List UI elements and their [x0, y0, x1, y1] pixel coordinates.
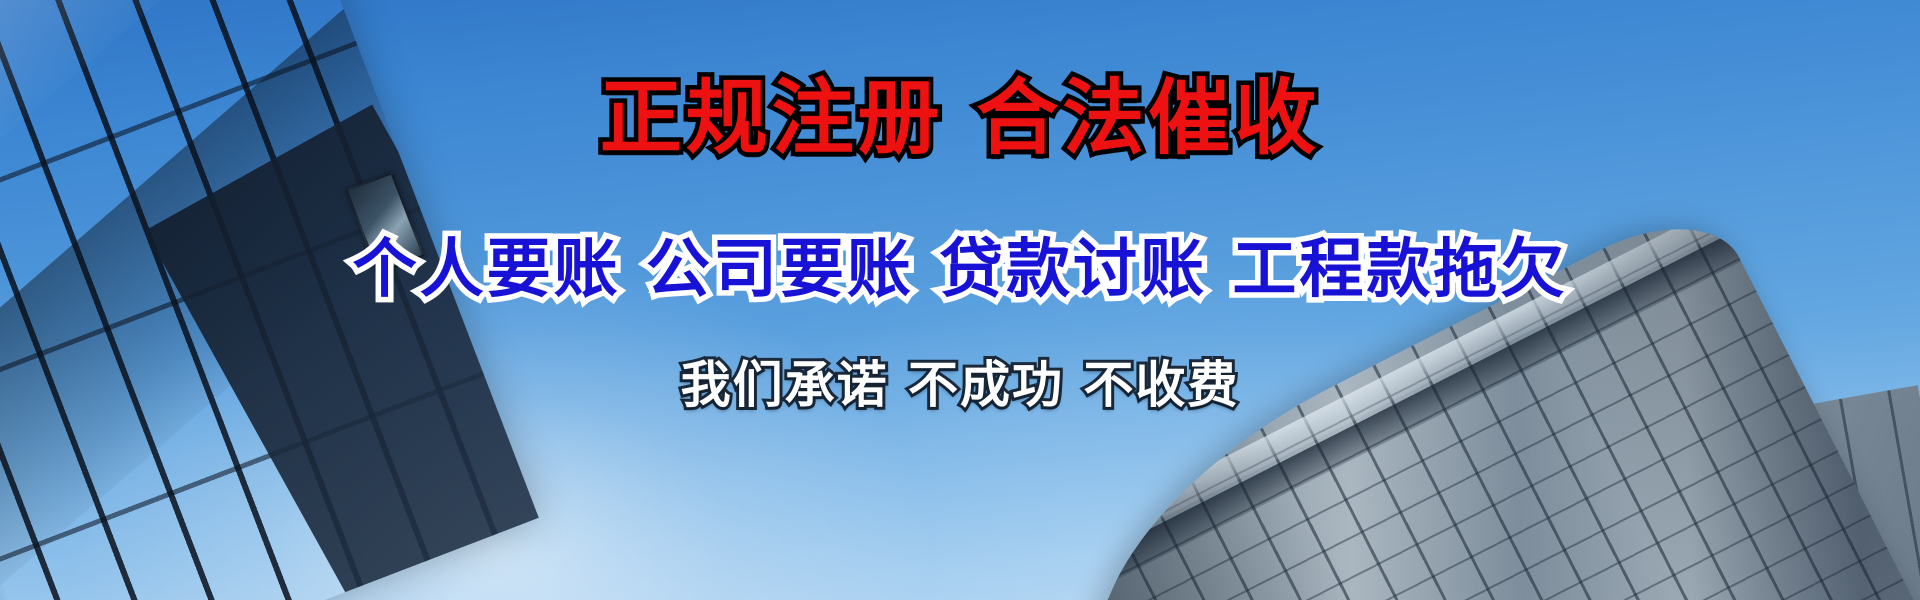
banner-text-layer: 正规注册 合法催收 个人要账 公司要账 贷款讨账 工程款拖欠 我们承诺 不成功 … [0, 0, 1920, 600]
headline-text: 正规注册 合法催收 [0, 78, 1920, 160]
services-text: 个人要账 公司要账 贷款讨账 工程款拖欠 [0, 238, 1920, 302]
promo-banner: 正规注册 合法催收 个人要账 公司要账 贷款讨账 工程款拖欠 我们承诺 不成功 … [0, 0, 1920, 600]
promise-text: 我们承诺 不成功 不收费 [0, 360, 1920, 410]
